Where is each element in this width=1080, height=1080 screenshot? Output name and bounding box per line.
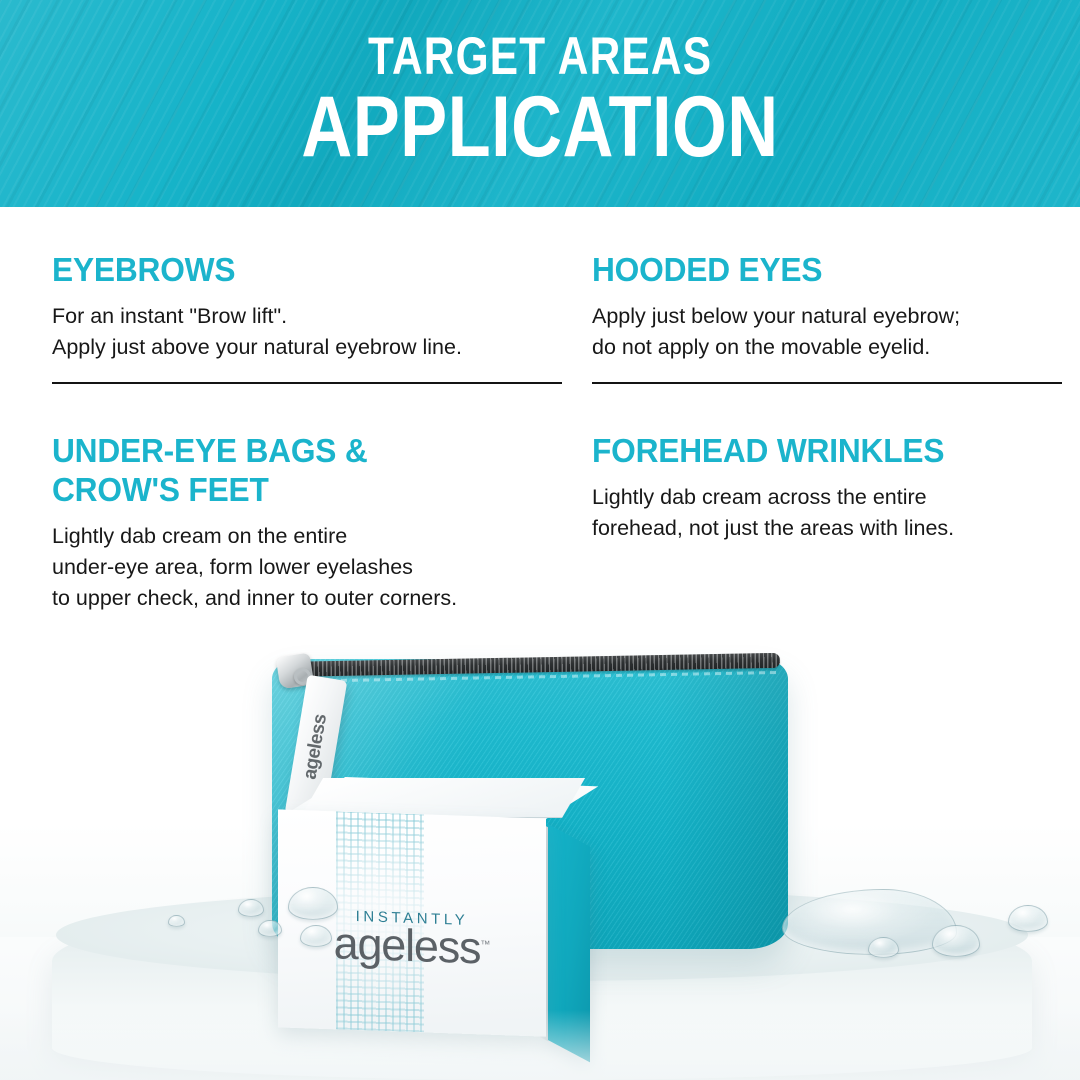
water-droplet [932,925,980,957]
section-heading-eyebrows: EYEBROWS [52,251,542,290]
zipper-tag-label: ageless [300,713,333,781]
section-heading-forehead-wrinkles: FOREHEAD WRINKLES [592,432,1043,471]
water-droplet [300,925,332,947]
section-eyebrows: EYEBROWS For an instant "Brow lift". App… [52,251,562,384]
water-droplet [238,899,264,917]
infographic-page: TARGET AREAS APPLICATION EYEBROWS For an… [0,0,1080,1080]
water-droplet [288,887,338,920]
scene-bottom-fade [0,1010,1080,1080]
header-title-secondary: APPLICATION [301,84,778,170]
water-droplet [1008,905,1048,932]
box-brand-word: ageless [334,917,481,973]
content-area: EYEBROWS For an instant "Brow lift". App… [0,207,1080,637]
section-hooded-eyes: HOODED EYES Apply just below your natura… [592,251,1062,384]
section-body-forehead-wrinkles: Lightly dab cream across the entire fore… [592,482,1062,544]
product-scene: ageless INSTANTLY ageless™ [0,637,1080,1080]
header-title-primary: TARGET AREAS [368,31,712,83]
section-divider-left [52,382,562,384]
trademark-symbol: ™ [480,939,490,950]
section-under-eye-bags-crows-feet: UNDER-EYE BAGS & CROW'S FEET Lightly dab… [52,432,562,614]
pouch-shadow-right [633,659,788,949]
instantly-ageless-box-front: INSTANTLY ageless™ [278,809,546,1036]
section-body-under-eye-bags-crows-feet: Lightly dab cream on the entire under-ey… [52,521,562,615]
section-forehead-wrinkles: FOREHEAD WRINKLES Lightly dab cream acro… [592,432,1062,544]
section-heading-hooded-eyes: HOODED EYES [592,251,1043,290]
section-heading-under-eye-bags-crows-feet: UNDER-EYE BAGS & CROW'S FEET [52,432,542,510]
water-droplet [258,920,282,937]
section-body-hooded-eyes: Apply just below your natural eyebrow; d… [592,301,1062,363]
section-divider-right [592,382,1062,384]
water-droplet [168,915,185,927]
section-body-eyebrows: For an instant "Brow lift". Apply just a… [52,301,562,363]
water-droplet [868,937,899,958]
header-banner: TARGET AREAS APPLICATION [0,0,1080,207]
